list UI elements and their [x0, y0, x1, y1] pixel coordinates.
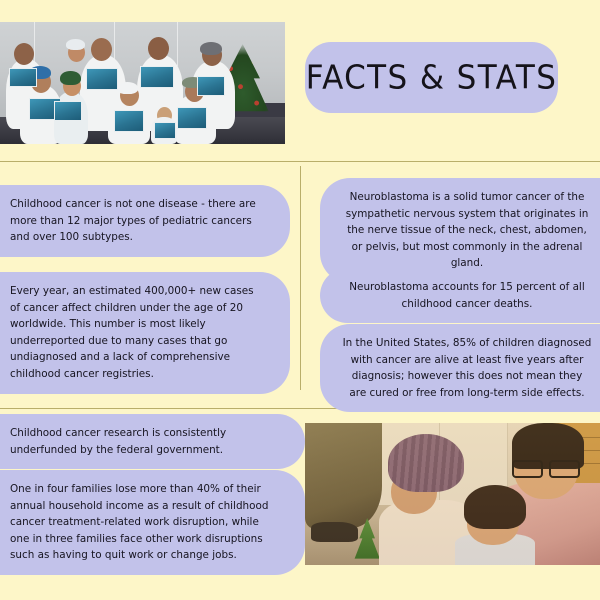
tent-seam: [114, 22, 115, 59]
fact-bubble-family-income-loss: One in four families lose more than 40% …: [0, 470, 305, 575]
fact-bubble-neuroblastoma-deaths: Neuroblastoma accounts for 15 percent of…: [320, 268, 600, 323]
white-hat: [117, 82, 138, 94]
awareness-sign: [197, 76, 225, 96]
fact-bubble-research-underfunded: Childhood cancer research is consistentl…: [0, 414, 305, 469]
beanie-hat: [200, 42, 222, 55]
person-head: [148, 37, 169, 60]
awareness-sign: [54, 101, 82, 121]
awareness-sign: [154, 122, 176, 139]
eyeglasses-icon: [512, 460, 580, 474]
children-photo: [305, 423, 600, 565]
group-photo-families-holding-signs: [0, 22, 285, 144]
divider-vertical-middle: [300, 166, 301, 390]
eyeglass-lens-left: [512, 460, 543, 478]
divider-horizontal-top: [0, 161, 600, 162]
knit-hat: [60, 71, 81, 85]
awareness-sign: [9, 68, 37, 87]
purple-knit-beanie: [388, 434, 464, 492]
infographic-poster: FACTS & STATS Childhood cancer is not on…: [0, 0, 600, 600]
baby-hair: [464, 485, 526, 529]
fact-bubble-new-cases-per-year: Every year, an estimated 400,000+ new ca…: [0, 272, 290, 394]
shoe: [311, 522, 358, 542]
beanie-hat: [66, 39, 85, 50]
awareness-sign: [140, 66, 174, 88]
person-head: [14, 43, 34, 65]
awareness-sign: [86, 68, 118, 90]
eyeglass-lens-right: [549, 460, 580, 478]
fact-bubble-childhood-cancer-types: Childhood cancer is not one disease - th…: [0, 185, 290, 257]
fact-bubble-survival-rate: In the United States, 85% of children di…: [320, 324, 600, 412]
page-title: FACTS & STATS: [306, 58, 558, 96]
adult-legs: [305, 423, 382, 528]
awareness-sign: [114, 110, 144, 132]
person-head: [91, 38, 112, 61]
page-title-card: FACTS & STATS: [305, 42, 558, 113]
awareness-sign: [177, 107, 207, 129]
tent-seam: [177, 22, 178, 66]
